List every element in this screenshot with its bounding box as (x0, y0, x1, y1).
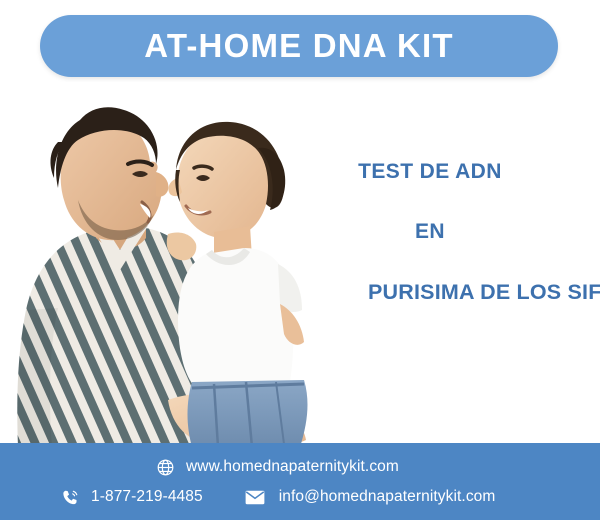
headline-block: TEST DE ADN EN PURISIMA DE LOS SIFUENTES (250, 160, 600, 305)
globe-icon (155, 457, 175, 477)
header-banner: AT-HOME DNA KIT (40, 15, 558, 77)
page-title: AT-HOME DNA KIT (144, 27, 453, 65)
footer-contact-row: 1-877-219-4485 info@homednapaternitykit.… (60, 487, 495, 507)
phone-icon (60, 487, 80, 507)
headline-line-location: PURISIMA DE LOS SIFUENTES (368, 280, 600, 305)
phone-text: 1-877-219-4485 (91, 488, 203, 506)
footer-item-email[interactable]: info@homednapaternitykit.com (245, 487, 496, 507)
footer-website-row: www.homednapaternitykit.com (155, 457, 399, 477)
headline-line-connector: EN (250, 220, 600, 244)
headline-line-service: TEST DE ADN (250, 160, 600, 184)
footer-item-website[interactable]: www.homednapaternitykit.com (155, 457, 399, 477)
website-text: www.homednapaternitykit.com (186, 458, 399, 476)
email-text: info@homednapaternitykit.com (279, 488, 496, 506)
promo-banner: AT-HOME DNA KIT (0, 0, 600, 520)
footer-bar: www.homednapaternitykit.com 1-877-219-44… (0, 443, 600, 520)
footer-item-phone[interactable]: 1-877-219-4485 (60, 487, 203, 507)
envelope-icon (245, 487, 265, 507)
